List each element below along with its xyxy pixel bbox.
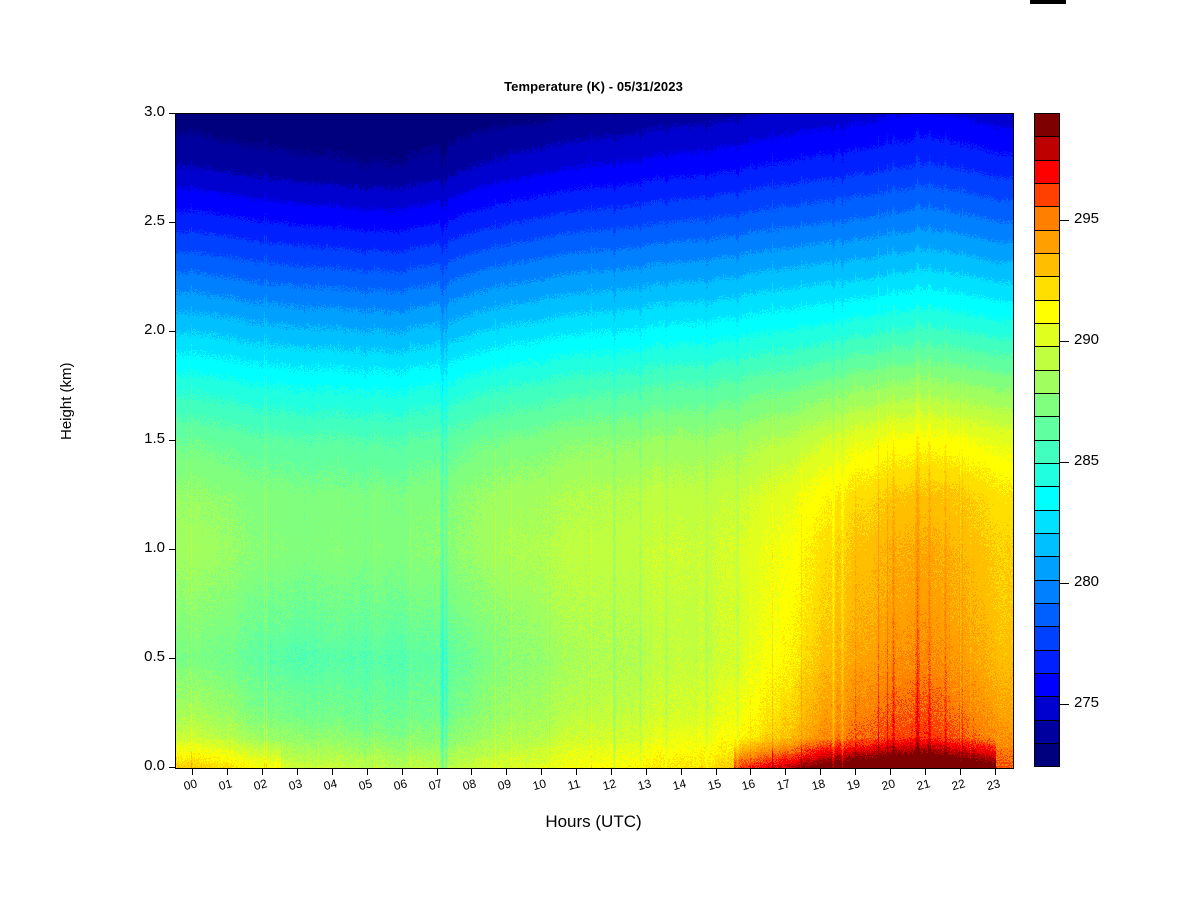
x-tick-mark: [785, 768, 786, 775]
y-tick-mark: [169, 222, 176, 223]
x-tick-mark: [402, 768, 403, 775]
y-tick-label: 2.5: [105, 212, 165, 229]
x-tick-label: 23: [985, 776, 1001, 793]
x-tick-mark: [820, 768, 821, 775]
x-tick-mark: [332, 768, 333, 775]
colorbar-cell: [1035, 277, 1059, 300]
x-tick-label: 09: [496, 776, 512, 793]
colorbar-tick-mark: [1060, 220, 1069, 221]
temperature-heatmap[interactable]: [176, 114, 1013, 768]
colorbar[interactable]: 275280285290295: [1034, 113, 1060, 767]
colorbar-gradient: [1034, 113, 1060, 767]
x-tick-mark: [890, 768, 891, 775]
figure-canvas: Temperature (K) - 05/31/2023 Height (km)…: [0, 0, 1200, 900]
colorbar-cell: [1035, 487, 1059, 510]
x-tick-mark: [576, 768, 577, 775]
x-tick-mark: [995, 768, 996, 775]
colorbar-tick-mark: [1060, 583, 1069, 584]
colorbar-cell: [1035, 604, 1059, 627]
y-tick-mark: [169, 331, 176, 332]
x-tick-label: 12: [601, 776, 617, 793]
heatmap-plot-area[interactable]: [175, 113, 1014, 769]
y-tick-mark: [169, 658, 176, 659]
colorbar-cell: [1035, 394, 1059, 417]
x-tick-mark: [262, 768, 263, 775]
colorbar-cell: [1035, 651, 1059, 674]
colorbar-tick-mark: [1060, 704, 1069, 705]
x-tick-label: 15: [706, 776, 722, 793]
x-tick-mark: [855, 768, 856, 775]
colorbar-cell: [1035, 441, 1059, 464]
colorbar-cell: [1035, 347, 1059, 370]
colorbar-cell: [1035, 674, 1059, 697]
x-tick-mark: [925, 768, 926, 775]
y-tick-label: 0.5: [105, 648, 165, 665]
x-tick-label: 20: [880, 776, 896, 793]
colorbar-cell: [1035, 534, 1059, 557]
y-tick-label: 1.0: [105, 539, 165, 556]
y-tick-mark: [169, 767, 176, 768]
x-tick-label: 04: [322, 776, 338, 793]
x-tick-label: 11: [566, 776, 581, 793]
x-tick-mark: [506, 768, 507, 775]
colorbar-cell: [1035, 161, 1059, 184]
colorbar-cell: [1035, 744, 1059, 766]
x-tick-label: 18: [810, 776, 826, 793]
x-tick-label: 07: [427, 776, 443, 793]
page-title: Temperature (K) - 05/31/2023: [175, 79, 1012, 94]
colorbar-cell: [1035, 697, 1059, 720]
colorbar-tick-label: 280: [1074, 573, 1099, 590]
x-tick-label: 01: [217, 776, 233, 793]
colorbar-cell: [1035, 581, 1059, 604]
colorbar-tick-mark: [1060, 462, 1069, 463]
colorbar-cell: [1035, 207, 1059, 230]
colorbar-cell: [1035, 511, 1059, 534]
x-tick-label: 00: [182, 776, 198, 793]
x-tick-label: 21: [915, 776, 931, 793]
x-tick-mark: [437, 768, 438, 775]
x-tick-label: 08: [461, 776, 477, 793]
x-tick-label: 03: [287, 776, 303, 793]
colorbar-tick-label: 295: [1074, 210, 1099, 227]
y-tick-label: 3.0: [105, 103, 165, 120]
x-tick-label: 17: [775, 776, 791, 793]
x-tick-label: 22: [950, 776, 966, 793]
y-tick-label: 2.0: [105, 321, 165, 338]
x-tick-label: 05: [357, 776, 373, 793]
colorbar-cell: [1035, 324, 1059, 347]
y-tick-label: 1.5: [105, 430, 165, 447]
top-edge-artifact: [1030, 0, 1066, 4]
colorbar-cell: [1035, 114, 1059, 137]
x-tick-mark: [471, 768, 472, 775]
y-tick-mark: [169, 440, 176, 441]
x-tick-label: 19: [845, 776, 861, 793]
colorbar-cell: [1035, 301, 1059, 324]
x-tick-mark: [541, 768, 542, 775]
x-tick-mark: [192, 768, 193, 775]
colorbar-cell: [1035, 137, 1059, 160]
colorbar-cell: [1035, 557, 1059, 580]
x-tick-mark: [646, 768, 647, 775]
y-tick-mark: [169, 113, 176, 114]
x-tick-mark: [681, 768, 682, 775]
x-tick-label: 14: [671, 776, 687, 793]
colorbar-tick-label: 275: [1074, 694, 1099, 711]
y-axis-label: Height (km): [58, 362, 75, 440]
colorbar-cell: [1035, 417, 1059, 440]
x-axis-label: Hours (UTC): [175, 812, 1012, 832]
x-tick-mark: [716, 768, 717, 775]
colorbar-tick-label: 290: [1074, 331, 1099, 348]
colorbar-cell: [1035, 254, 1059, 277]
colorbar-tick-label: 285: [1074, 452, 1099, 469]
x-tick-label: 13: [636, 776, 652, 793]
x-tick-mark: [297, 768, 298, 775]
x-tick-label: 10: [531, 776, 547, 793]
y-tick-label: 0.0: [105, 757, 165, 774]
colorbar-cell: [1035, 184, 1059, 207]
x-tick-label: 06: [392, 776, 408, 793]
colorbar-cell: [1035, 627, 1059, 650]
x-tick-label: 16: [740, 776, 756, 793]
colorbar-cell: [1035, 231, 1059, 254]
x-tick-mark: [750, 768, 751, 775]
x-tick-mark: [960, 768, 961, 775]
x-tick-label: 02: [252, 776, 268, 793]
y-tick-mark: [169, 549, 176, 550]
colorbar-cell: [1035, 464, 1059, 487]
x-tick-mark: [367, 768, 368, 775]
x-tick-mark: [611, 768, 612, 775]
x-tick-mark: [227, 768, 228, 775]
colorbar-tick-mark: [1060, 341, 1069, 342]
colorbar-cell: [1035, 721, 1059, 744]
colorbar-cell: [1035, 371, 1059, 394]
